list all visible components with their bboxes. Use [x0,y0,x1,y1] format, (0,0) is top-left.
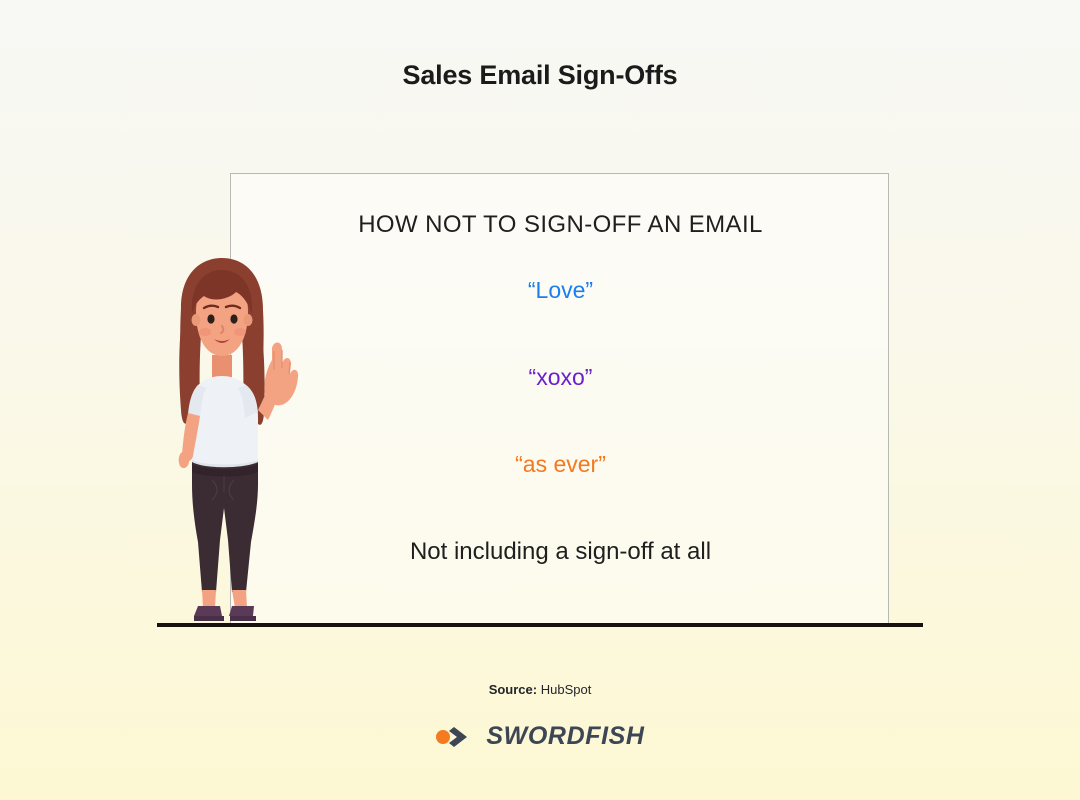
board-heading: HOW NOT TO SIGN-OFF AN EMAIL [231,211,890,239]
waving-woman-illustration [148,252,303,627]
whiteboard-panel: HOW NOT TO SIGN-OFF AN EMAIL “Love” “xox… [230,173,889,625]
list-item-text-love: “Love” [528,277,593,303]
source-value: HubSpot [541,682,592,697]
sign-off-list: “Love” “xoxo” “as ever” Not including a … [231,279,890,564]
swordfish-chevron-mark-icon [435,724,477,750]
source-label: Source: [489,682,537,697]
list-item-text-xoxo: “xoxo” [529,364,593,390]
swordfish-logo-text: SWORDFISH [486,722,644,751]
page-title: Sales Email Sign-Offs [0,60,1080,91]
swordfish-logo[interactable]: SWORDFISH [0,722,1080,751]
list-item: “xoxo” [231,366,890,389]
source-attribution: Source: HubSpot [0,682,1080,697]
waving-woman-svg [148,252,303,627]
list-item-text-no-sign-off: Not including a sign-off at all [410,538,711,565]
list-item-text-as-ever: “as ever” [515,451,606,477]
list-item: “as ever” [231,453,890,476]
list-item: Not including a sign-off at all [231,540,890,564]
list-item: “Love” [231,279,890,302]
